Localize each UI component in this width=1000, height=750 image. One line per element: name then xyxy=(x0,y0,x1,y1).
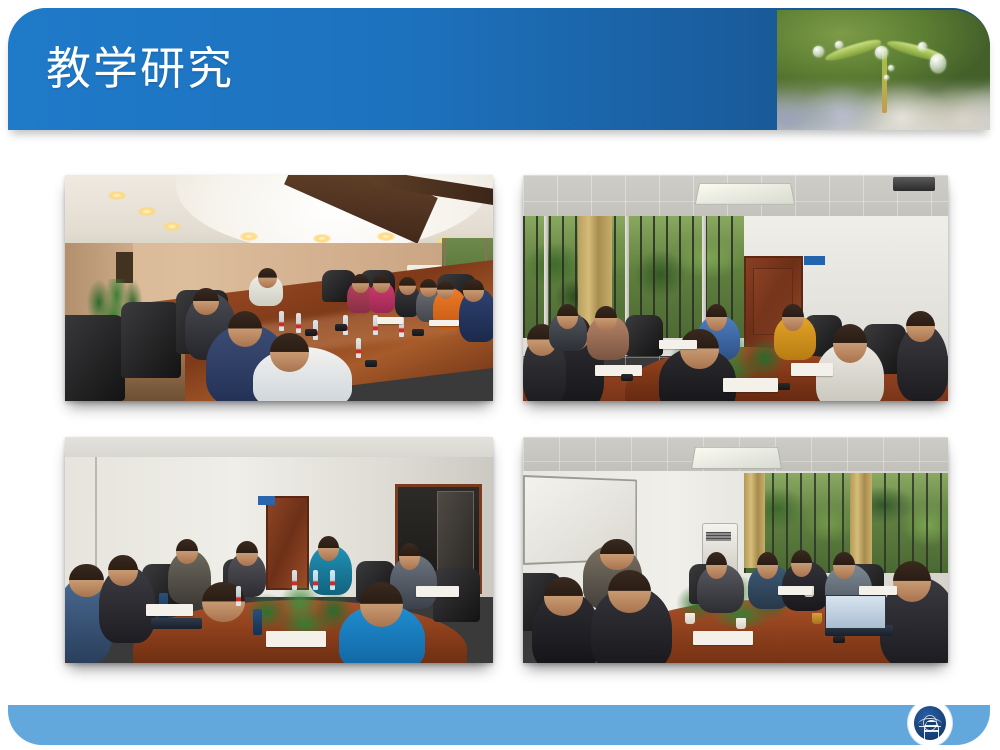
attendee-head xyxy=(463,279,484,302)
photo-1-scene xyxy=(65,175,493,401)
university-emblem-icon xyxy=(908,700,952,746)
wooden-door xyxy=(266,496,309,590)
photo-grid xyxy=(0,0,1000,750)
tea-cup xyxy=(812,613,822,624)
thermos-cup xyxy=(253,609,262,635)
attendee-head xyxy=(782,304,803,331)
water-bottle xyxy=(292,570,297,590)
document-sheet xyxy=(429,320,459,327)
window-curtain xyxy=(850,473,871,568)
attendee-head xyxy=(108,555,138,587)
footer-bar xyxy=(8,705,990,745)
water-bottle xyxy=(279,311,284,331)
ceiling-light xyxy=(377,232,395,241)
photo-thumbnail[interactable] xyxy=(523,175,948,401)
ceiling-light xyxy=(108,191,126,200)
attendee-head xyxy=(557,304,578,329)
attendee-head xyxy=(791,550,812,577)
emblem-base-line xyxy=(919,726,941,728)
laptop xyxy=(151,618,202,629)
photo-2-scene xyxy=(523,175,948,401)
attendee-head xyxy=(69,564,103,598)
water-bottle xyxy=(296,313,301,333)
attendee-head xyxy=(608,570,651,613)
office-chair xyxy=(65,315,125,401)
attendee-head xyxy=(544,577,582,615)
ceiling-light xyxy=(240,232,258,241)
ceiling-light xyxy=(313,234,331,243)
photo-thumbnail[interactable] xyxy=(523,437,948,663)
photo-thumbnail[interactable] xyxy=(65,437,493,663)
attendee-head xyxy=(893,561,931,602)
document-sheet xyxy=(859,586,897,595)
wall-sign xyxy=(804,256,825,265)
ceiling-projector xyxy=(893,177,936,191)
document-sheet xyxy=(595,365,642,376)
conference-microphone xyxy=(412,329,424,336)
document-sheet xyxy=(791,363,834,377)
attendee-head xyxy=(360,582,403,627)
attendee-head xyxy=(270,333,309,371)
emblem-inner-disc xyxy=(912,704,948,742)
conference-microphone xyxy=(335,324,347,331)
water-bottle xyxy=(356,338,361,358)
attendee-head xyxy=(833,324,867,362)
office-chair xyxy=(625,315,663,356)
office-chair xyxy=(121,302,181,379)
attendee-head xyxy=(318,536,339,561)
emblem-core xyxy=(923,715,937,731)
photo-thumbnail[interactable] xyxy=(65,175,493,401)
photo-4-scene xyxy=(523,437,948,663)
attendee-head xyxy=(236,541,257,566)
attendee-head xyxy=(595,306,616,331)
document-sheet xyxy=(693,631,753,645)
document-sheet xyxy=(146,604,193,615)
slide-canvas: 教学研究 xyxy=(0,0,1000,750)
mobile-phone xyxy=(778,383,790,390)
fluorescent-light-panel xyxy=(691,447,782,469)
document-stack xyxy=(266,631,326,647)
conference-microphone xyxy=(305,329,317,336)
attendee-head xyxy=(373,274,390,292)
air-conditioner-vent xyxy=(706,532,732,541)
water-bottle xyxy=(313,570,318,590)
attendee-head xyxy=(193,288,219,315)
paper-cup xyxy=(685,613,695,624)
mobile-phone xyxy=(833,636,845,643)
attendee-head xyxy=(352,274,369,292)
attendee-head xyxy=(680,329,718,370)
attendee-head xyxy=(176,539,197,564)
conference-microphone xyxy=(365,360,377,367)
document-sheet xyxy=(377,317,403,324)
window-mullion xyxy=(544,216,548,338)
attendee-head xyxy=(706,304,727,331)
attendee-head xyxy=(258,268,277,288)
wall-sign xyxy=(258,496,275,505)
ceiling-light xyxy=(138,207,156,216)
water-bottle xyxy=(330,570,335,590)
attendee-head xyxy=(833,552,854,579)
document-sheet xyxy=(723,378,778,392)
paper-cup xyxy=(736,618,746,629)
attendee-head xyxy=(399,277,416,295)
document-sheet xyxy=(416,586,459,597)
attendee-head xyxy=(228,311,262,347)
photo-3-scene xyxy=(65,437,493,663)
attendee-head xyxy=(600,539,634,571)
laptop-screen xyxy=(825,595,887,629)
document-sheet xyxy=(778,586,812,595)
document-sheet xyxy=(659,340,697,349)
fluorescent-light-panel xyxy=(695,183,795,204)
device xyxy=(621,374,633,381)
water-bottle xyxy=(236,586,241,606)
emblem-glyph xyxy=(924,720,939,742)
